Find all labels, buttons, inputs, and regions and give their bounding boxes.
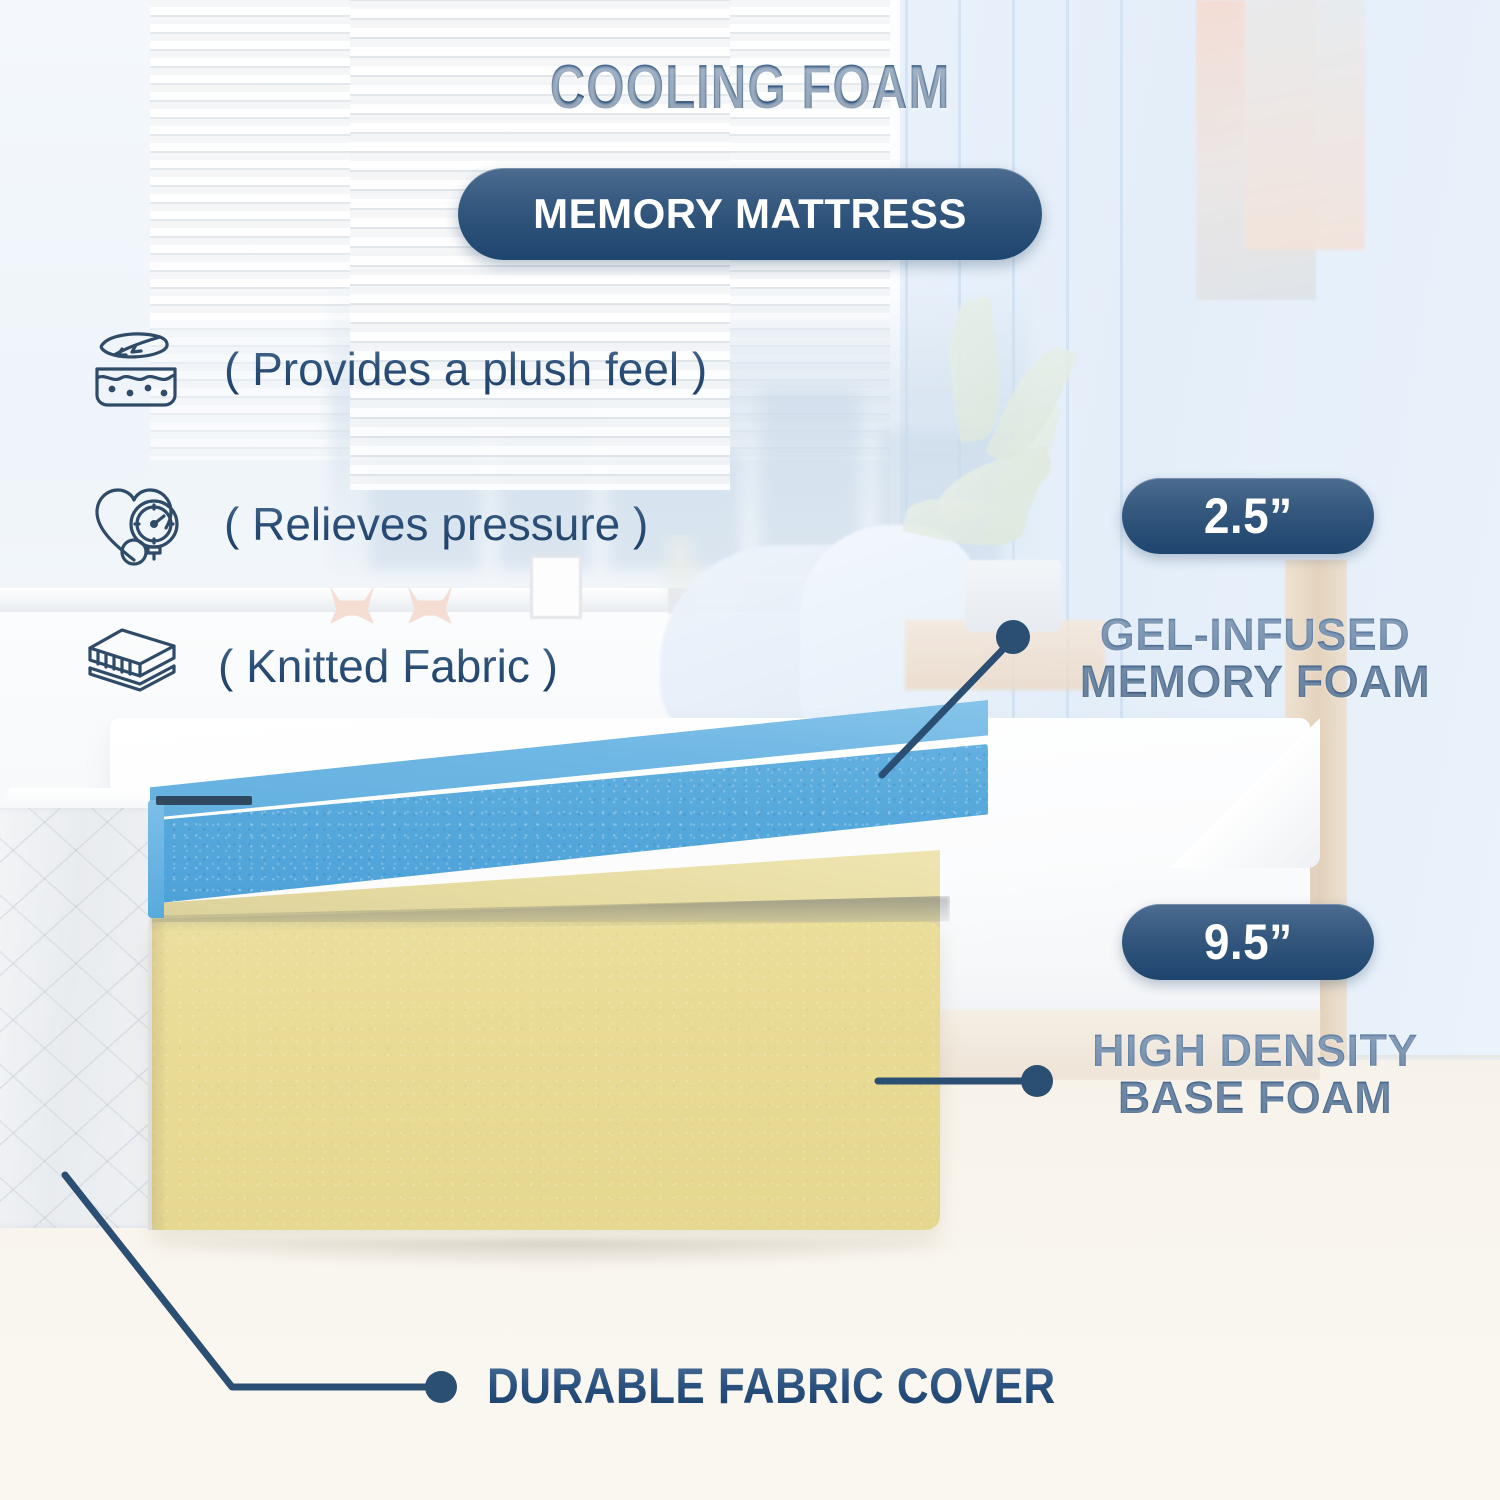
callout-label-gel-foam: GEL-INFUSED MEMORY FOAM	[1040, 612, 1470, 706]
thickness-badge-value: 9.5”	[1204, 913, 1293, 971]
feature-label: ( Knitted Fabric )	[218, 639, 558, 693]
heart-pressure-gauge-icon	[88, 480, 184, 568]
callout-label-fabric-cover: DURABLE FABRIC COVER	[487, 1357, 1056, 1415]
wall-art	[1245, 0, 1365, 250]
subtitle-pill: MEMORY MATTRESS	[458, 168, 1042, 260]
thickness-badge-value: 2.5”	[1204, 487, 1293, 545]
gel-foam-notch	[156, 796, 252, 805]
feather-on-foam-icon	[88, 325, 184, 413]
base-foam-texture	[152, 922, 940, 1230]
base-foam-left-edge	[152, 922, 168, 1230]
subtitle-pill-label: MEMORY MATTRESS	[533, 190, 967, 238]
thickness-badge-base-foam: 9.5”	[1122, 904, 1374, 980]
thickness-badge-gel-foam: 2.5”	[1122, 478, 1374, 554]
stacked-fabric-layers-icon	[82, 622, 178, 710]
callout-label-line1: HIGH DENSITY	[1040, 1028, 1470, 1075]
feature-row-relieves-pressure: ( Relieves pressure )	[88, 480, 648, 568]
feature-row-knitted-fabric: ( Knitted Fabric )	[82, 622, 558, 710]
gel-foam-slab	[150, 700, 1010, 950]
callout-label-line1: GEL-INFUSED	[1040, 612, 1470, 659]
feature-label: ( Provides a plush feel )	[224, 342, 707, 396]
page-title: COOLING FOAM	[150, 52, 1350, 123]
callout-label-line2: BASE FOAM	[1040, 1075, 1470, 1122]
gel-foam-left-cap	[148, 800, 164, 918]
feature-row-plush-feel: ( Provides a plush feel )	[88, 325, 707, 413]
durable-fabric-cover-layer	[0, 808, 160, 1228]
callout-label-base-foam: HIGH DENSITY BASE FOAM	[1040, 1028, 1470, 1122]
mattress-layer-diagram	[0, 700, 1000, 1260]
infographic-canvas: COOLING FOAM MEMORY MATTRESS ( Provides …	[0, 0, 1500, 1500]
feature-label: ( Relieves pressure )	[224, 497, 648, 551]
stack-floor-shadow	[140, 1240, 970, 1268]
callout-label-line2: MEMORY FOAM	[1040, 659, 1470, 706]
